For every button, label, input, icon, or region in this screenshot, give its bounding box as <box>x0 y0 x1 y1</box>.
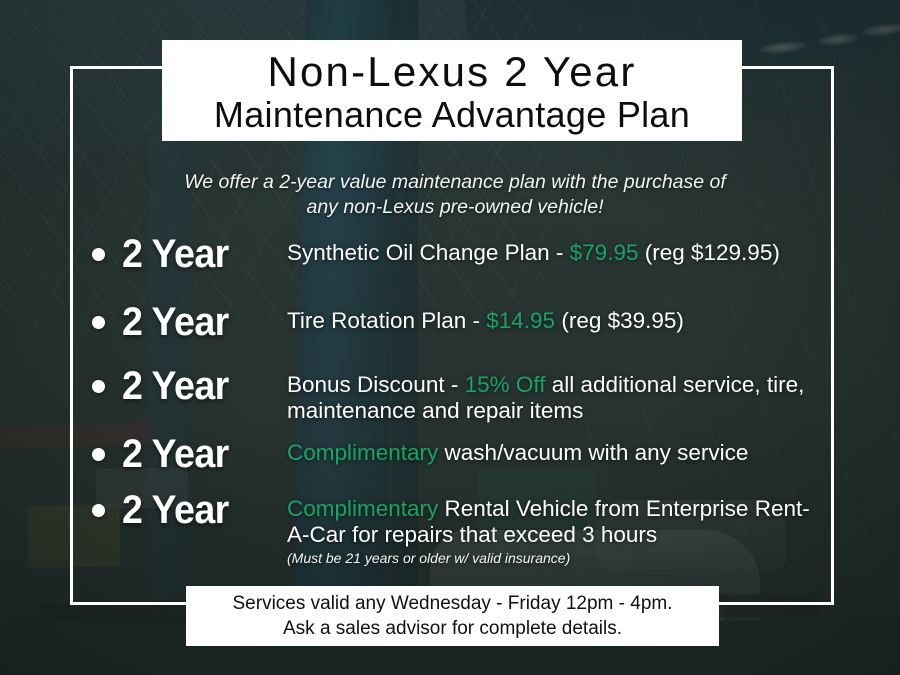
offer-text-after: wash/vacuum with any service <box>438 440 748 465</box>
offer-highlight: 15% Off <box>465 372 546 397</box>
offer-highlight: $79.95 <box>570 240 639 265</box>
offer-text-before: Bonus Discount - <box>287 372 465 397</box>
offer-text-after: (reg $39.95) <box>555 308 684 333</box>
promotional-poster: Non-Lexus 2 Year Maintenance Advantage P… <box>0 0 900 675</box>
offers-list: 2 Year Synthetic Oil Change Plan - $79.9… <box>92 232 822 577</box>
offer-term: 2 Year <box>122 364 277 408</box>
title-box: Non-Lexus 2 Year Maintenance Advantage P… <box>162 40 742 141</box>
offer-term: 2 Year <box>122 432 277 476</box>
footer-line2: Ask a sales advisor for complete details… <box>283 616 622 641</box>
offer-description: Complimentary wash/vacuum with any servi… <box>287 432 822 466</box>
offer-description: Tire Rotation Plan - $14.95 (reg $39.95) <box>287 300 822 334</box>
offer-term: 2 Year <box>122 488 277 532</box>
bullet-dot-icon <box>92 380 105 393</box>
page-title-line2: Maintenance Advantage Plan <box>214 95 690 135</box>
subtitle-line2: any non-Lexus pre-owned vehicle! <box>150 195 760 220</box>
offer-term: 2 Year <box>122 232 277 276</box>
offer-fineprint: (Must be 21 years or older w/ valid insu… <box>287 550 822 567</box>
list-item: 2 Year Synthetic Oil Change Plan - $79.9… <box>92 232 822 276</box>
offer-term: 2 Year <box>122 300 277 344</box>
subtitle-line1: We offer a 2-year value maintenance plan… <box>150 170 760 195</box>
list-item: 2 Year Tire Rotation Plan - $14.95 (reg … <box>92 300 822 344</box>
offer-description: Complimentary Rental Vehicle from Enterp… <box>287 488 822 567</box>
list-item: 2 Year Complimentary Rental Vehicle from… <box>92 488 822 567</box>
list-item: 2 Year Bonus Discount - 15% Off all addi… <box>92 364 822 424</box>
bullet-dot-icon <box>92 504 105 517</box>
offer-text-before: Synthetic Oil Change Plan - <box>287 240 570 265</box>
offer-text-after: (reg $129.95) <box>638 240 779 265</box>
offer-text-before: Tire Rotation Plan - <box>287 308 486 333</box>
subtitle: We offer a 2-year value maintenance plan… <box>150 170 760 220</box>
offer-highlight: Complimentary <box>287 440 438 465</box>
page-title-line1: Non-Lexus 2 Year <box>267 49 636 95</box>
offer-highlight: $14.95 <box>486 308 555 333</box>
footer-line1: Services valid any Wednesday - Friday 12… <box>233 591 673 616</box>
list-item: 2 Year Complimentary wash/vacuum with an… <box>92 432 822 476</box>
bullet-dot-icon <box>92 248 105 261</box>
offer-description: Bonus Discount - 15% Off all additional … <box>287 364 822 424</box>
offer-highlight: Complimentary <box>287 496 438 521</box>
bullet-dot-icon <box>92 448 105 461</box>
bullet-dot-icon <box>92 316 105 329</box>
footer-box: Services valid any Wednesday - Friday 12… <box>186 586 719 646</box>
offer-description: Synthetic Oil Change Plan - $79.95 (reg … <box>287 232 822 266</box>
